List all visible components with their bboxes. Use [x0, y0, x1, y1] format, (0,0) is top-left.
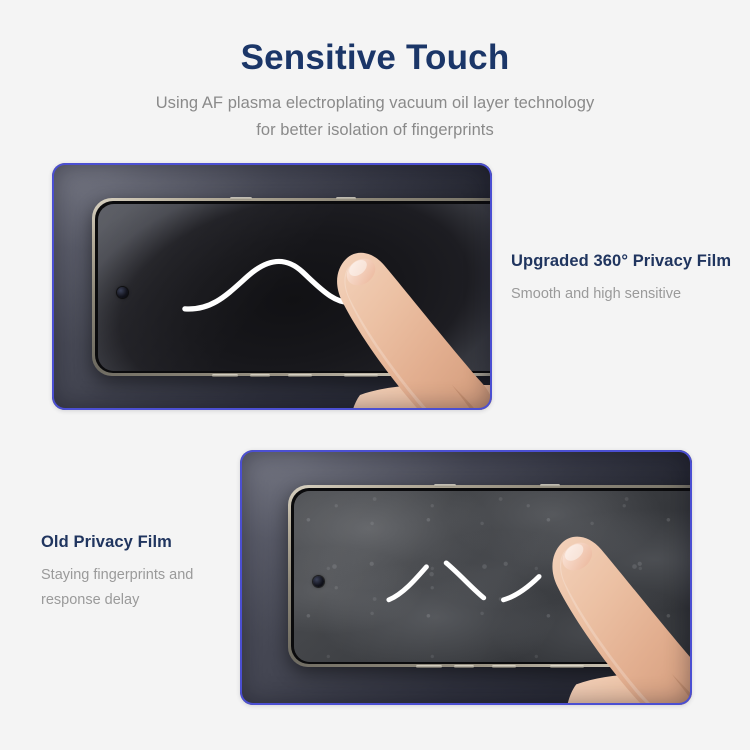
page-title: Sensitive Touch [0, 38, 750, 78]
label-upgraded-title: Upgraded 360° Privacy Film [511, 252, 731, 271]
touch-trail-continuous [98, 204, 493, 371]
label-old-desc: Staying fingerprints and response delay [41, 563, 193, 613]
phone-rail-button-2 [454, 665, 474, 668]
touch-trail-broken [294, 491, 693, 662]
phone-rail-top-button [434, 484, 456, 487]
subtitle-line-2: for better isolation of fingerprints [0, 117, 750, 144]
phone-rail-button-3 [288, 374, 312, 377]
phone-bezel [95, 201, 492, 373]
panel-upgraded-privacy-film [52, 163, 492, 410]
label-upgraded-desc: Smooth and high sensitive [511, 282, 731, 307]
phone-screen-clean [98, 204, 493, 371]
label-old-title: Old Privacy Film [41, 533, 193, 552]
label-old-desc-line-2: response delay [41, 588, 193, 613]
page-subtitle: Using AF plasma electroplating vacuum oi… [0, 90, 750, 143]
phone-rail-top-button [230, 197, 252, 200]
phone-rail-button-3 [492, 665, 516, 668]
phone-rail-button-1 [212, 374, 238, 377]
phone-rail-button-2 [250, 374, 270, 377]
phone-rail-speaker [344, 374, 378, 377]
phone-rail-speaker [550, 665, 584, 668]
phone-rail-top-mic [540, 484, 560, 487]
panel-old-privacy-film [240, 450, 692, 705]
phone-screen-smudged [294, 491, 693, 662]
product-feature-page: Sensitive Touch Using AF plasma electrop… [0, 0, 750, 750]
label-upgraded-privacy-film: Upgraded 360° Privacy Film Smooth and hi… [511, 252, 731, 307]
label-old-desc-line-1: Staying fingerprints and [41, 563, 193, 588]
subtitle-line-1: Using AF plasma electroplating vacuum oi… [0, 90, 750, 117]
phone-rail-button-1 [416, 665, 442, 668]
phone-bezel [291, 488, 692, 664]
header: Sensitive Touch Using AF plasma electrop… [0, 0, 750, 144]
phone-device-old [288, 485, 692, 667]
phone-rail-top-mic [336, 197, 356, 200]
phone-device-upgraded [92, 198, 492, 376]
label-old-privacy-film: Old Privacy Film Staying fingerprints an… [41, 533, 193, 613]
